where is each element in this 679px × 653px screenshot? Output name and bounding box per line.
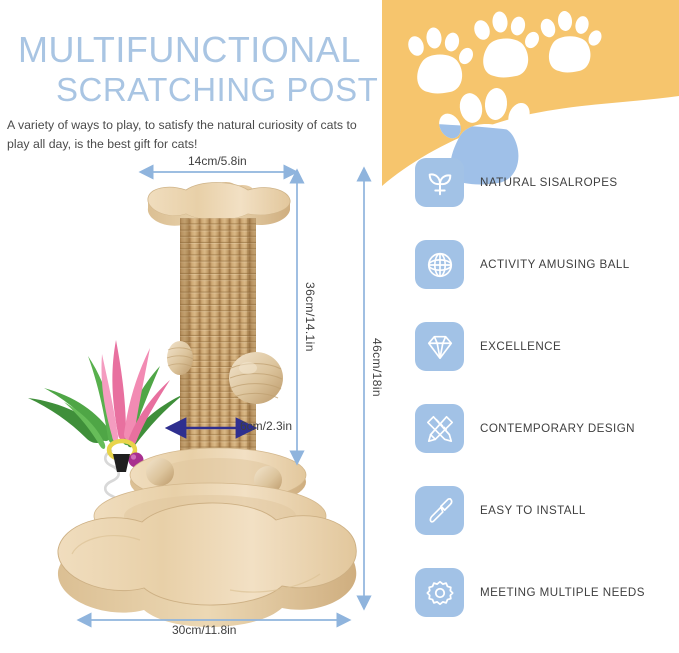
- feature-row-natural-sisalropes[interactable]: NATURAL SISALROPES: [415, 158, 679, 207]
- diamond-icon: [415, 322, 464, 371]
- feature-row-excellence[interactable]: EXCELLENCE: [415, 322, 679, 371]
- globe-ball-icon: [415, 240, 464, 289]
- feature-label: EXCELLENCE: [480, 340, 561, 353]
- sisal-ball-upper-post: [167, 341, 193, 375]
- sprout-icon: [415, 158, 464, 207]
- dimension-label-top-width: 14cm/5.8in: [188, 154, 247, 168]
- product-illustration: [0, 150, 400, 653]
- dimension-label-base-width: 30cm/11.8in: [172, 623, 236, 637]
- bell-highlight: [131, 454, 136, 459]
- feature-label: ACTIVITY AMUSING BALL: [480, 258, 630, 271]
- sisal-ball-mid-post: [229, 352, 283, 404]
- paw-print-icon: [538, 10, 604, 72]
- ruler-pencil-icon: [415, 404, 464, 453]
- feature-label: NATURAL SISALROPES: [480, 176, 618, 189]
- feature-label: CONTEMPORARY DESIGN: [480, 422, 635, 435]
- pink-feathers: [101, 340, 170, 446]
- feature-row-contemporary-design[interactable]: CONTEMPORARY DESIGN: [415, 404, 679, 453]
- header: MULTIFUNCTIONAL SCRATCHING POST A variet…: [0, 0, 420, 154]
- feature-row-meeting-multiple-needs[interactable]: MEETING MULTIPLE NEEDS: [415, 568, 679, 617]
- feature-row-easy-to-install[interactable]: EASY TO INSTALL: [415, 486, 679, 535]
- gear-icon: [415, 568, 464, 617]
- infographic-page: MULTIFUNCTIONAL SCRATCHING POST A variet…: [0, 0, 679, 653]
- dimension-label-post-height: 36cm/14.1in: [303, 282, 317, 352]
- screwdriver-icon: [415, 486, 464, 535]
- paw-print-icon: [472, 11, 542, 78]
- page-subtitle: A variety of ways to play, to satisfy th…: [0, 109, 375, 154]
- feature-list: NATURAL SISALROPES ACTIVITY AMUSING BALL: [415, 158, 679, 650]
- feature-label: MEETING MULTIPLE NEEDS: [480, 586, 645, 599]
- dimension-label-post-diameter: 6cm/2.3in: [240, 419, 292, 433]
- feature-row-activity-amusing-ball[interactable]: ACTIVITY AMUSING BALL: [415, 240, 679, 289]
- page-title-line-1: MULTIFUNCTIONAL: [0, 0, 420, 70]
- feature-label: EASY TO INSTALL: [480, 504, 586, 517]
- flower-base-platform: [58, 503, 356, 627]
- track-ball: [146, 458, 174, 486]
- page-title-line-2: SCRATCHING POST: [0, 70, 420, 108]
- dimension-label-total-height: 46cm/18in: [370, 338, 384, 397]
